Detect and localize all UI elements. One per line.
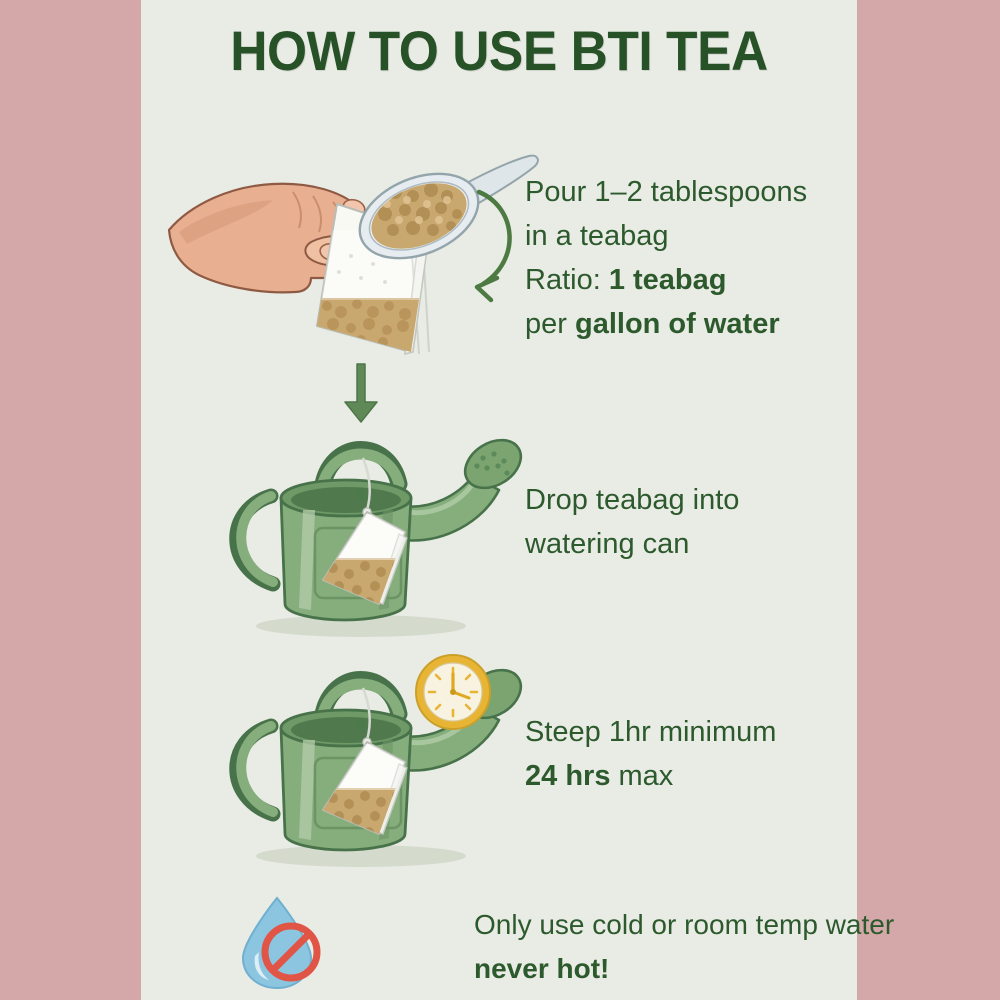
bottom-note-line-1: Only use cold or room temp water xyxy=(474,903,894,947)
step-1-line-4: per gallon of water xyxy=(525,302,807,346)
flow-down-arrow xyxy=(331,362,391,424)
no-hot-water-svg xyxy=(229,890,339,994)
step-1-text: Pour 1–2 tablespoons in a teabag Ratio: … xyxy=(525,170,807,346)
page-title: HOW TO USE BTI TEA xyxy=(170,18,829,83)
can-rivet xyxy=(356,489,366,499)
poster-root: HOW TO USE BTI TEA xyxy=(0,0,1000,1000)
bottom-note-line-2: never hot! xyxy=(474,947,894,991)
step-2-line-1: Drop teabag into xyxy=(525,478,739,522)
hand-spoon-teabag-svg xyxy=(161,130,541,380)
step-1-ratio-label: Ratio: xyxy=(525,264,609,296)
no-hot-water-icon xyxy=(229,890,339,994)
step-1-line-2-text: in a teabag xyxy=(525,220,669,252)
step-3-max-label: max xyxy=(610,760,673,792)
step-3-duration-max: 24 hrs xyxy=(525,760,610,792)
hand-spoon-teabag-illustration xyxy=(161,130,541,380)
bottom-note: Only use cold or room temp water never h… xyxy=(474,903,894,991)
clock-icon xyxy=(416,655,490,729)
step-2-text: Drop teabag into watering can xyxy=(525,478,739,566)
step-3-text: Steep 1hr minimum 24 hrs max xyxy=(525,710,776,798)
poster-card: HOW TO USE BTI TEA xyxy=(141,0,857,1000)
can-opening xyxy=(291,487,401,513)
curved-pour-arrow xyxy=(477,192,510,300)
down-arrow-icon xyxy=(331,362,391,424)
watering-can-clock-illustration xyxy=(211,648,541,868)
step-1-line-1: Pour 1–2 tablespoons xyxy=(525,170,807,214)
watering-can-teabag-illustration xyxy=(211,418,541,638)
step-1-line-3: Ratio: 1 teabag xyxy=(525,258,807,302)
step-3-line-2: 24 hrs max xyxy=(525,754,776,798)
step-1-line-2: in a teabag xyxy=(525,214,807,258)
can-opening xyxy=(291,717,401,743)
step-1-per-label: per xyxy=(525,308,575,340)
clock-center xyxy=(450,689,456,695)
watering-can-svg-2 xyxy=(211,648,541,868)
step-1-per-value: gallon of water xyxy=(575,308,780,340)
step-2-line-2: watering can xyxy=(525,522,739,566)
step-1-ratio-value: 1 teabag xyxy=(609,264,727,296)
can-rivet xyxy=(356,719,366,729)
bottom-note-emphasis: never hot! xyxy=(474,953,609,984)
watering-can-svg-1 xyxy=(211,418,541,638)
step-3-line-1: Steep 1hr minimum xyxy=(525,710,776,754)
step-1-line-1-text: Pour 1–2 tablespoons xyxy=(525,176,807,208)
